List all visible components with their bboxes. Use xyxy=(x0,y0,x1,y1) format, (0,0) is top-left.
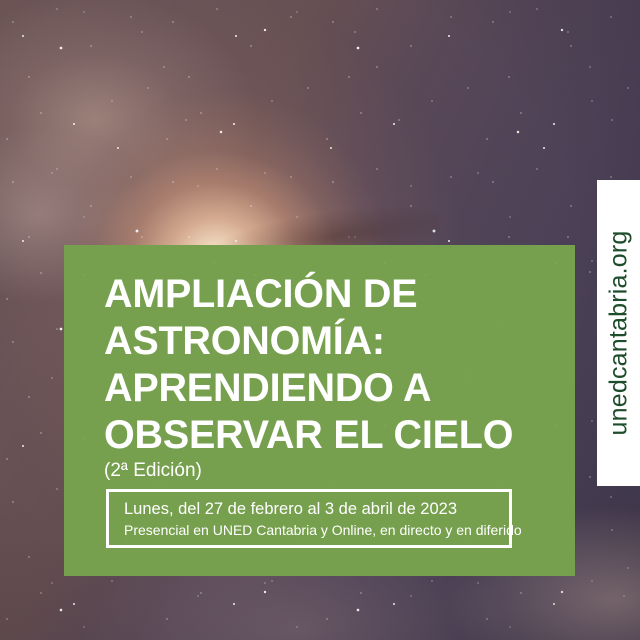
website-url-strip[interactable]: unedcantabria.org xyxy=(597,180,640,486)
page-title: AMPLIACIÓN DE ASTRONOMÍA: APRENDIENDO A … xyxy=(104,271,545,459)
poster-canvas: AMPLIACIÓN DE ASTRONOMÍA: APRENDIENDO A … xyxy=(0,0,640,640)
event-format: Presencial en UNED Cantabria y Online, e… xyxy=(124,520,509,540)
edition-subtitle: (2ª Edición) xyxy=(104,460,545,482)
title-line-1: AMPLIACIÓN DE xyxy=(104,271,545,318)
event-dates: Lunes, del 27 de febrero al 3 de abril d… xyxy=(124,498,509,520)
title-line-2: ASTRONOMÍA: xyxy=(104,318,545,365)
title-line-3: APRENDIENDO A xyxy=(104,365,545,412)
website-url-label[interactable]: unedcantabria.org xyxy=(604,231,633,436)
event-details-box: Lunes, del 27 de febrero al 3 de abril d… xyxy=(106,489,512,548)
title-line-4: OBSERVAR EL CIELO xyxy=(104,412,545,459)
